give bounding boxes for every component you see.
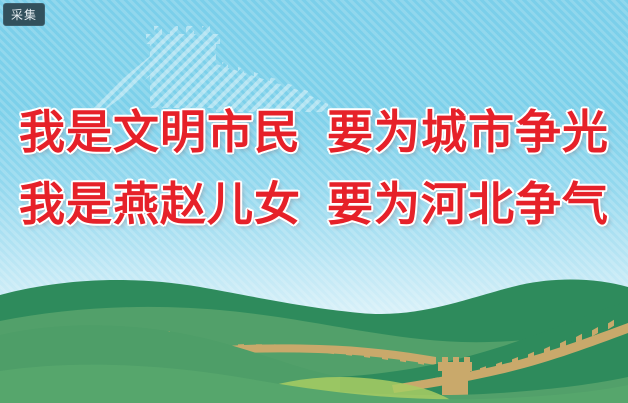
great-wall-watchtower-right [442,369,468,395]
headline-line-1-right: 要为城市争光 [327,96,609,168]
capture-button[interactable]: 采集 [3,3,45,26]
headline-block: 我是文明市民要为城市争光 我是燕赵儿女要为河北争气 [0,96,628,240]
headline-line-2-left: 我是燕赵儿女 [19,168,301,240]
rolling-green-hills [0,273,628,403]
headline-line-2-right: 要为河北争气 [327,168,609,240]
headline-line-1-left: 我是文明市民 [19,96,301,168]
headline-line-1: 我是文明市民要为城市争光 [0,96,628,168]
headline-line-2: 我是燕赵儿女要为河北争气 [0,168,628,240]
banner-image: 我是文明市民要为城市争光 我是燕赵儿女要为河北争气 [0,0,628,403]
